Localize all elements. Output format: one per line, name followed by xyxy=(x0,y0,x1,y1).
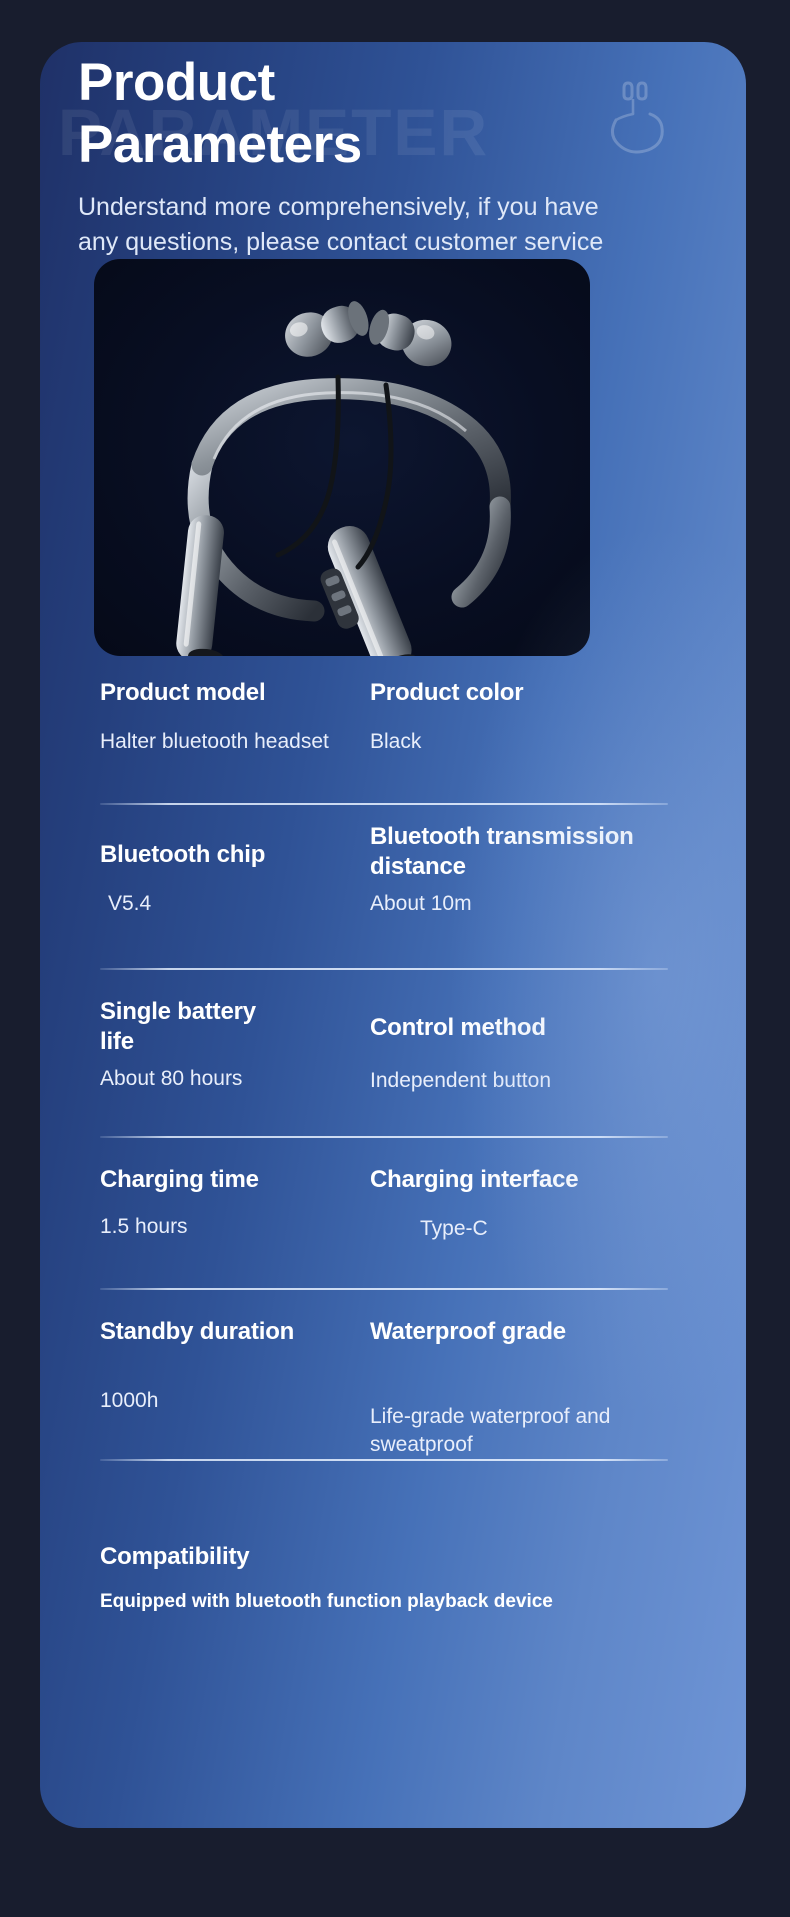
param-value-transmission-distance: About 10m xyxy=(370,890,630,918)
param-value-charging-interface: Type-C xyxy=(420,1215,660,1243)
param-key-battery-life: Single battery life xyxy=(100,997,290,1057)
param-key-control-method: Control method xyxy=(370,1013,640,1043)
param-value-waterproof-grade: Life-grade waterproof and sweatproof xyxy=(370,1403,630,1459)
table-row: Single battery life About 80 hours Contr… xyxy=(40,983,746,1151)
row-divider xyxy=(100,1136,668,1138)
param-key-standby-duration: Standby duration xyxy=(100,1317,300,1347)
param-value-control-method: Independent button xyxy=(370,1067,640,1095)
param-key-bluetooth-chip: Bluetooth chip xyxy=(100,840,350,870)
param-value-standby-duration: 1000h xyxy=(100,1387,320,1415)
table-row: Bluetooth chip V5.4 Bluetooth transmissi… xyxy=(40,818,746,983)
table-row: Product model Halter bluetooth headset P… xyxy=(40,670,746,818)
table-row: Charging time 1.5 hours Charging interfa… xyxy=(40,1151,746,1303)
parameters-table: Product model Halter bluetooth headset P… xyxy=(40,670,746,1503)
param-value-product-model: Halter bluetooth headset xyxy=(100,728,370,756)
param-key-charging-interface: Charging interface xyxy=(370,1165,660,1195)
product-image xyxy=(94,259,590,656)
param-key-product-model: Product model xyxy=(100,678,350,708)
table-row: Standby duration 1000h Waterproof grade … xyxy=(40,1303,746,1503)
row-divider xyxy=(100,803,668,805)
row-divider xyxy=(100,1459,668,1461)
param-key-waterproof-grade: Waterproof grade xyxy=(370,1317,600,1347)
param-value-charging-time: 1.5 hours xyxy=(100,1213,350,1241)
product-parameters-page: PARAMETER Product Parameters Understand … xyxy=(0,0,790,1917)
param-value-battery-life: About 80 hours xyxy=(100,1065,350,1093)
param-key-compatibility: Compatibility xyxy=(100,1542,500,1572)
parameters-card: PARAMETER Product Parameters Understand … xyxy=(40,42,746,1828)
page-subtitle-line2: any questions, please contact customer s… xyxy=(78,225,698,260)
page-title: Product Parameters xyxy=(78,52,638,176)
row-divider xyxy=(100,968,668,970)
row-divider xyxy=(100,1288,668,1290)
page-title-line1: Product xyxy=(78,52,638,114)
param-key-product-color: Product color xyxy=(370,678,630,708)
param-key-charging-time: Charging time xyxy=(100,1165,360,1195)
param-value-bluetooth-chip: V5.4 xyxy=(108,890,358,918)
page-title-line2: Parameters xyxy=(78,114,638,176)
page-subtitle: Understand more comprehensively, if you … xyxy=(78,190,698,260)
param-value-product-color: Black xyxy=(370,728,630,756)
page-subtitle-line1: Understand more comprehensively, if you … xyxy=(78,190,698,225)
param-key-transmission-distance: Bluetooth transmission distance xyxy=(370,822,700,882)
neckband-headset-illustration xyxy=(94,259,590,656)
param-value-compatibility: Equipped with bluetooth function playbac… xyxy=(100,1588,700,1616)
